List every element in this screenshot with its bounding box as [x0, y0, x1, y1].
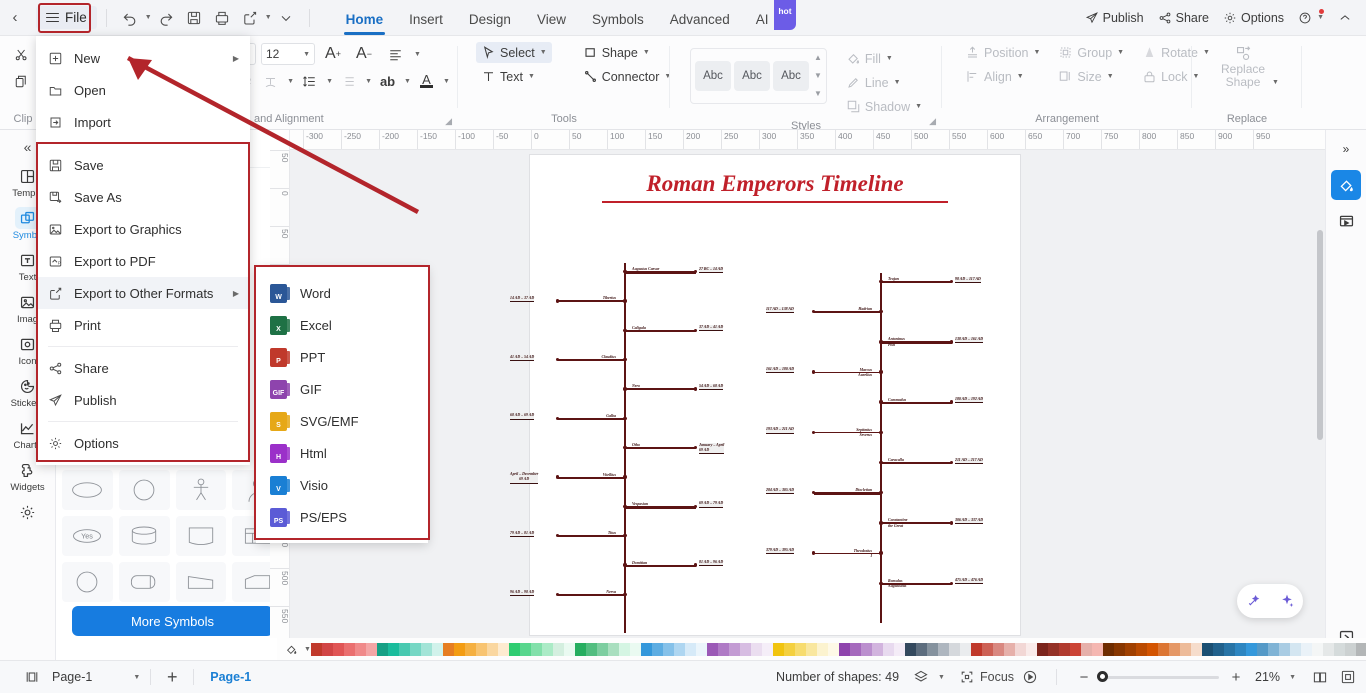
sidebar-item-settings[interactable] [0, 496, 56, 526]
print-icon [48, 318, 63, 333]
add-page-button[interactable]: + [161, 667, 183, 688]
paragraph-align-button[interactable] [382, 42, 408, 66]
ruler-tick: 250 [721, 130, 738, 150]
color-swatch[interactable] [1125, 643, 1136, 656]
color-swatch[interactable] [553, 643, 564, 656]
color-swatch[interactable] [1191, 643, 1202, 656]
text-tool-button[interactable]: Text▼ [476, 66, 552, 87]
color-swatch[interactable] [1004, 643, 1015, 656]
expand-gallery-icon[interactable]: ▼ [814, 90, 822, 98]
ruler-tick: 150 [645, 130, 662, 150]
symbol-trapezoid[interactable] [176, 562, 227, 602]
color-swatch[interactable] [839, 643, 850, 656]
collapse-right-panel-button[interactable]: » [1331, 134, 1361, 164]
color-swatch[interactable] [1279, 643, 1290, 656]
file-menu-item-print[interactable]: Print [36, 309, 250, 341]
color-swatch[interactable] [443, 643, 454, 656]
color-swatch[interactable] [1147, 643, 1158, 656]
font-dialog-launcher[interactable]: ◢ [445, 116, 452, 127]
color-swatch[interactable] [1026, 643, 1037, 656]
color-swatch[interactable] [773, 643, 784, 656]
more-symbols-label: More Symbols [131, 614, 214, 629]
export-format-ppt[interactable]: PPPT [256, 341, 428, 373]
timeline-reign-label[interactable]: 161 AD – 180 AD [766, 367, 794, 373]
folder-icon [48, 83, 63, 98]
canvas-area[interactable]: Roman Emperors Timeline Augustus Caesar2… [290, 150, 1325, 638]
timeline-emperor-label[interactable]: Caracalla [888, 458, 904, 463]
ruler-tick: 700 [1063, 130, 1080, 150]
color-swatch[interactable] [311, 643, 322, 656]
timeline-emperor-label[interactable]: Constantine the Great [888, 518, 907, 529]
tab-label: View [537, 12, 566, 27]
color-swatch[interactable] [685, 643, 696, 656]
chevron-down-icon[interactable]: ▼ [1317, 14, 1324, 21]
color-swatch[interactable] [575, 643, 586, 656]
color-swatch[interactable] [938, 643, 949, 656]
ruler-tick: -50 [493, 130, 508, 150]
color-swatch[interactable] [399, 643, 410, 656]
undo-caret-icon[interactable]: ▼ [145, 14, 152, 21]
palette-fill-button[interactable] [279, 643, 303, 656]
timeline-emperor-label[interactable]: Romulus Augustulus [888, 579, 906, 590]
group-icon [1058, 45, 1073, 60]
color-swatch[interactable] [1301, 643, 1312, 656]
color-swatch[interactable] [729, 643, 740, 656]
color-swatch[interactable] [476, 643, 487, 656]
hot-badge: hot [774, 0, 795, 30]
ruler-tick: -250 [341, 130, 361, 150]
color-swatch[interactable] [960, 643, 971, 656]
file-menu-item-export-to-other-formats[interactable]: Export to Other Formats▶ [36, 277, 250, 309]
align-button[interactable]: Align▼ [960, 66, 1045, 87]
copy-button[interactable] [8, 69, 34, 93]
line-spacing-button[interactable] [299, 69, 320, 93]
ruler-tick: 50 [270, 226, 290, 238]
color-swatch[interactable] [1224, 643, 1235, 656]
lock-icon [1142, 69, 1157, 84]
ai-floating-toolbar[interactable] [1237, 584, 1303, 618]
horizontal-ruler[interactable]: -300-250-200-150-100-5005010015020025030… [290, 130, 1325, 150]
color-swatch[interactable] [355, 643, 366, 656]
timeline-node-dot [879, 551, 882, 554]
color-swatch[interactable] [663, 643, 674, 656]
color-swatch[interactable] [1213, 643, 1224, 656]
svg-text:P: P [58, 260, 61, 265]
back-button[interactable]: ‹ [0, 9, 30, 26]
timeline-emperor-label[interactable]: Hadrian [818, 307, 872, 312]
color-swatch[interactable] [982, 643, 993, 656]
export-format-ps-eps[interactable]: PSPS/EPS [256, 501, 428, 533]
page-selector[interactable]: Page-1 ▼ [52, 670, 140, 684]
color-swatch[interactable] [1114, 643, 1125, 656]
zoom-out-button[interactable]: − [1075, 669, 1093, 686]
text-style-button[interactable] [260, 69, 281, 93]
focus-button[interactable]: Focus [959, 669, 1014, 685]
file-menu-item-share[interactable]: Share [36, 352, 250, 384]
plus-square-icon [48, 51, 63, 66]
ps-file-icon: PS [270, 508, 287, 527]
color-swatch[interactable] [465, 643, 476, 656]
palette-swatches [311, 643, 1366, 656]
color-swatch[interactable] [1312, 643, 1323, 656]
color-swatch[interactable] [432, 643, 443, 656]
zoom-slider-handle[interactable] [1097, 671, 1108, 682]
color-swatch[interactable] [850, 643, 861, 656]
export-format-html[interactable]: HHtml [256, 437, 428, 469]
timeline-emperor-label[interactable]: Diocletian [818, 488, 872, 493]
timeline-reign-label[interactable]: 211 AD – 217 AD [955, 458, 983, 464]
file-menu-item-new[interactable]: New▶ [36, 42, 250, 74]
font-size-field[interactable]: 12▼ [261, 43, 315, 65]
symbol-circle-outline[interactable] [62, 562, 113, 602]
select-tool-label: Select [500, 46, 535, 60]
print-button[interactable] [208, 5, 236, 31]
redo-button[interactable] [152, 5, 180, 31]
color-swatch[interactable] [509, 643, 520, 656]
color-swatch[interactable] [498, 643, 509, 656]
tab-home[interactable]: Home [333, 2, 397, 36]
color-swatch[interactable] [674, 643, 685, 656]
export-caret-icon[interactable]: ▼ [265, 14, 272, 21]
svg-text:Yes: Yes [82, 532, 94, 541]
timeline-reign-label[interactable]: 180 AD – 192 AD [955, 397, 983, 403]
tab-view[interactable]: View [524, 2, 579, 36]
zoom-level-label[interactable]: 21% [1255, 670, 1280, 684]
color-swatch[interactable] [630, 643, 641, 656]
chevron-down-icon[interactable]: ▼ [133, 674, 140, 681]
tab-advanced[interactable]: Advanced [657, 2, 743, 36]
color-swatch[interactable] [883, 643, 894, 656]
color-swatch[interactable] [762, 643, 773, 656]
timeline-reign-label[interactable]: 193 AD – 211 AD [766, 427, 794, 433]
cut-button[interactable] [8, 42, 34, 66]
book-view-button[interactable] [1312, 669, 1328, 685]
timeline-reign-label[interactable]: 306 AD – 337 AD [955, 518, 983, 524]
collapse-ribbon-button[interactable] [1332, 7, 1358, 29]
color-swatch[interactable] [806, 643, 817, 656]
customize-quick-access-button[interactable] [272, 5, 300, 31]
shape-tool-button[interactable]: Shape▼ [578, 42, 677, 63]
timeline-reign-label[interactable]: 98 AD – 117 AD [955, 277, 981, 283]
fill-bucket-icon [1338, 177, 1355, 194]
cursor-icon [481, 45, 496, 60]
color-swatch[interactable] [608, 643, 619, 656]
color-swatch[interactable] [564, 643, 575, 656]
position-button[interactable]: Position▼ [960, 42, 1045, 63]
font-color-button[interactable]: A [416, 69, 437, 93]
ribbon-tabs: Home Insert Design View Symbols Advanced… [333, 0, 782, 36]
tab-design[interactable]: Design [456, 2, 524, 36]
file-menu-item-save-as[interactable]: Save As [36, 181, 250, 213]
ab-case-button[interactable]: ab [377, 69, 398, 93]
export-format-visio[interactable]: VVisio [256, 469, 428, 501]
color-swatch[interactable] [784, 643, 795, 656]
save-icon [48, 158, 63, 173]
connector-icon [583, 69, 598, 84]
fill-bucket-icon [285, 643, 298, 656]
more-symbols-button[interactable]: More Symbols [72, 606, 273, 636]
scroll-down-icon[interactable]: ▼ [814, 72, 822, 80]
timeline-reign-label[interactable]: 284 AD – 305 AD [766, 488, 794, 494]
ai-sparkle-icon[interactable] [1279, 593, 1295, 609]
color-swatch[interactable] [333, 643, 344, 656]
align-label: Align [984, 70, 1012, 84]
symbol-ellipse[interactable] [62, 470, 113, 510]
color-swatch[interactable] [1356, 643, 1366, 656]
export-format-word[interactable]: WWord [256, 277, 428, 309]
color-swatch[interactable] [366, 643, 377, 656]
file-menu-item-open[interactable]: Open [36, 74, 250, 106]
color-swatch[interactable] [861, 643, 872, 656]
export-format-excel[interactable]: XExcel [256, 309, 428, 341]
symbol-cylinder[interactable] [119, 516, 170, 556]
options-button[interactable]: Options [1217, 7, 1290, 29]
color-swatch[interactable] [696, 643, 707, 656]
color-swatch[interactable] [388, 643, 399, 656]
decrease-font-size-button[interactable]: A− [351, 42, 377, 66]
color-swatch[interactable] [641, 643, 652, 656]
color-swatch[interactable] [971, 643, 982, 656]
style-swatch[interactable]: Abc [773, 61, 809, 91]
export-formats-submenu[interactable]: WWordXExcelPPPTGIFGIFSSVG/EMFHHtmlVVisio… [256, 267, 428, 543]
connector-tool-button[interactable]: Connector▼ [578, 66, 677, 87]
symbol-person[interactable] [176, 470, 227, 510]
save-button[interactable] [180, 5, 208, 31]
color-swatch[interactable] [1059, 643, 1070, 656]
color-swatch[interactable] [586, 643, 597, 656]
ribbon-group-arrangement: Position▼ Align▼ Group▼ Size▼ [942, 36, 1192, 130]
file-menu-item-publish[interactable]: Publish [36, 384, 250, 416]
ribbon-group-styles: Abc Abc Abc ▲ ▼ ▼ Fill▼ Line▼ [670, 36, 942, 130]
color-swatch[interactable] [905, 643, 916, 656]
export-format-svg-emf[interactable]: SSVG/EMF [256, 405, 428, 437]
text-curve-icon [263, 74, 278, 89]
undo-button[interactable] [116, 5, 144, 31]
file-menu-item-export-to-graphics[interactable]: Export to Graphics [36, 213, 250, 245]
color-swatch[interactable] [1180, 643, 1191, 656]
file-menu-item-import[interactable]: Import [36, 106, 250, 138]
ruler-tick: 900 [1215, 130, 1232, 150]
help-button[interactable]: ▼ [1292, 7, 1330, 29]
ruler-tick: -300 [303, 130, 323, 150]
file-menu-item-export-to-pdf[interactable]: PExport to PDF [36, 245, 250, 277]
right-panel-presentation-button[interactable] [1331, 206, 1361, 236]
size-icon [1058, 69, 1073, 84]
file-menu-dropdown[interactable]: New▶OpenImportSaveSave AsExport to Graph… [36, 36, 250, 465]
style-swatch[interactable]: Abc [734, 61, 770, 91]
tab-symbols[interactable]: Symbols [579, 2, 657, 36]
color-swatch[interactable] [1290, 643, 1301, 656]
timeline-emperor-label[interactable]: Trajan [888, 277, 899, 282]
color-swatch[interactable] [1081, 643, 1092, 656]
zoom-in-button[interactable]: + [1227, 669, 1245, 686]
export-image-icon [48, 222, 63, 237]
timeline-endpoint [812, 310, 815, 313]
select-tool-button[interactable]: Select▼ [476, 42, 552, 63]
symbol-document[interactable] [176, 516, 227, 556]
color-swatch[interactable] [718, 643, 729, 656]
publish-label: Publish [1103, 11, 1144, 25]
timeline-reign-label[interactable]: 475 AD – 476 AD [955, 578, 983, 584]
timeline-emperor-label[interactable]: Commodus [888, 398, 906, 403]
color-swatch[interactable] [1202, 643, 1213, 656]
color-swatch[interactable] [949, 643, 960, 656]
color-swatch[interactable] [740, 643, 751, 656]
replace-shape-icon [1235, 45, 1252, 62]
bullet-list-button[interactable] [338, 69, 359, 93]
color-swatch[interactable] [542, 643, 553, 656]
color-swatch[interactable] [1257, 643, 1268, 656]
page-tab-page-1[interactable]: Page-1 [204, 670, 257, 684]
color-swatch[interactable] [377, 643, 388, 656]
ribbon-group-tools: Select▼ Text▼ Shape▼ Connector▼ Tools [458, 36, 670, 130]
color-swatch[interactable] [927, 643, 938, 656]
tab-insert[interactable]: Insert [396, 2, 456, 36]
color-swatch[interactable] [916, 643, 927, 656]
file-menu-button[interactable]: File [36, 6, 97, 29]
color-swatch[interactable] [1235, 643, 1246, 656]
color-swatch[interactable] [597, 643, 608, 656]
timeline-emperor-label[interactable]: Theodosius I [818, 549, 872, 560]
export-format-label: PPT [300, 350, 325, 365]
color-swatch[interactable] [795, 643, 806, 656]
line-button[interactable]: Line▼ [841, 72, 927, 93]
color-swatch[interactable] [652, 643, 663, 656]
timeline-column-right: Trajan98 AD – 117 ADHadrian117 AD – 138 … [530, 155, 1020, 635]
color-swatch[interactable] [1345, 643, 1356, 656]
color-swatch[interactable] [1334, 643, 1345, 656]
color-swatch[interactable] [344, 643, 355, 656]
ruler-tick: 500 [270, 568, 290, 585]
color-swatch[interactable] [487, 643, 498, 656]
share-button[interactable]: Share [1152, 7, 1215, 29]
color-swatch[interactable] [520, 643, 531, 656]
color-swatch[interactable] [707, 643, 718, 656]
publish-button[interactable]: Publish [1079, 7, 1150, 29]
export-format-label: SVG/EMF [300, 414, 359, 429]
color-swatch[interactable] [1246, 643, 1257, 656]
timeline-emperor-label[interactable]: Septimius Severus [818, 428, 872, 439]
timeline-reign-label[interactable]: 117 AD – 138 AD [766, 307, 794, 313]
divider [1056, 669, 1057, 685]
color-swatch[interactable] [1158, 643, 1169, 656]
color-swatch[interactable] [322, 643, 333, 656]
zoom-caret-icon[interactable]: ▼ [1289, 674, 1296, 681]
fit-page-icon [1340, 669, 1356, 685]
zoom-slider[interactable] [1101, 676, 1219, 679]
color-swatch[interactable] [894, 643, 905, 656]
group-button[interactable]: Group▼ [1053, 42, 1129, 63]
file-menu-item-label: New [74, 51, 100, 66]
page-view-icon[interactable] [24, 669, 40, 685]
style-gallery-scroller[interactable]: ▲ ▼ ▼ [812, 54, 822, 98]
divider [309, 9, 310, 27]
color-swatch[interactable] [421, 643, 432, 656]
file-menu-item-options[interactable]: Options [36, 427, 250, 459]
palette-caret-icon[interactable]: ▼ [304, 646, 311, 653]
color-swatch[interactable] [1048, 643, 1059, 656]
line-spacing-icon [302, 74, 317, 89]
color-swatch[interactable] [1070, 643, 1081, 656]
file-menu-item-label: Options [74, 436, 119, 451]
fit-page-button[interactable] [1340, 669, 1356, 685]
layers-button[interactable] [913, 669, 929, 685]
layers-icon [913, 669, 929, 685]
zoom-out-label: − [1080, 669, 1089, 686]
symbol-rounded-rect[interactable] [119, 562, 170, 602]
timeline-reign-label[interactable]: 379 AD – 395 AD [766, 548, 794, 554]
color-swatch[interactable] [1092, 643, 1103, 656]
canvas-vertical-scrollbar[interactable] [1317, 230, 1323, 440]
symbol-yes-decision[interactable]: Yes [62, 516, 113, 556]
presentation-play-button[interactable] [1022, 669, 1038, 685]
fill-button[interactable]: Fill▼ [841, 48, 927, 69]
shadow-button[interactable]: Shadow▼ [841, 96, 927, 117]
color-swatch[interactable] [619, 643, 630, 656]
replace-shape-button[interactable]: Replace Shape [1215, 42, 1271, 92]
share-export-button[interactable] [236, 5, 264, 31]
color-swatch[interactable] [828, 643, 839, 656]
color-swatch[interactable] [1169, 643, 1180, 656]
ruler-tick: 400 [835, 130, 852, 150]
scroll-up-icon[interactable]: ▲ [814, 54, 822, 62]
publish-icon [48, 393, 63, 408]
color-swatch[interactable] [817, 643, 828, 656]
timeline-endpoint [812, 551, 815, 554]
ruler-tick: -100 [455, 130, 475, 150]
export-pdf-icon: P [48, 254, 63, 269]
fill-label: Fill [865, 52, 881, 66]
ruler-tick: 50 [270, 150, 290, 162]
timeline-endpoint [950, 400, 953, 403]
layers-caret-icon[interactable]: ▼ [938, 674, 945, 681]
file-menu-item-label: Export to Graphics [74, 222, 182, 237]
color-swatch[interactable] [1136, 643, 1147, 656]
color-swatch[interactable] [751, 643, 762, 656]
style-gallery[interactable]: Abc Abc Abc ▲ ▼ ▼ [690, 48, 827, 104]
style-swatch[interactable]: Abc [695, 61, 731, 91]
timeline-emperor-label[interactable]: Antoninus Pius [888, 337, 905, 348]
color-swatch[interactable] [1268, 643, 1279, 656]
symbol-circle[interactable] [119, 470, 170, 510]
styles-dialog-launcher[interactable]: ◢ [929, 116, 936, 127]
right-panel-fill-button[interactable] [1331, 170, 1361, 200]
book-view-icon [1312, 669, 1328, 685]
align-text-icon [388, 47, 403, 62]
color-swatch[interactable] [531, 643, 542, 656]
file-menu-item-save[interactable]: Save [36, 149, 250, 181]
color-swatch[interactable] [1103, 643, 1114, 656]
gear-icon [15, 501, 41, 523]
document-page[interactable]: Roman Emperors Timeline Augustus Caesar2… [530, 155, 1020, 635]
export-format-gif[interactable]: GIFGIF [256, 373, 428, 405]
align-icon [965, 69, 980, 84]
color-swatch[interactable] [410, 643, 421, 656]
tab-ai[interactable]: AI hot [743, 2, 782, 36]
color-swatch[interactable] [1037, 643, 1048, 656]
ribbon-group-replace: Replace Shape ▼ Replace [1192, 36, 1302, 130]
color-swatch[interactable] [1015, 643, 1026, 656]
timeline-emperor-label[interactable]: Marcus Aurelius [818, 368, 872, 379]
timeline-reign-label[interactable]: 138 AD – 161 AD [955, 337, 983, 343]
color-swatch[interactable] [993, 643, 1004, 656]
increase-font-size-button[interactable]: A+ [320, 42, 346, 66]
ai-magic-icon[interactable] [1246, 593, 1262, 609]
size-button[interactable]: Size▼ [1053, 66, 1129, 87]
color-swatch[interactable] [1323, 643, 1334, 656]
color-swatch[interactable] [454, 643, 465, 656]
color-swatch[interactable] [872, 643, 883, 656]
